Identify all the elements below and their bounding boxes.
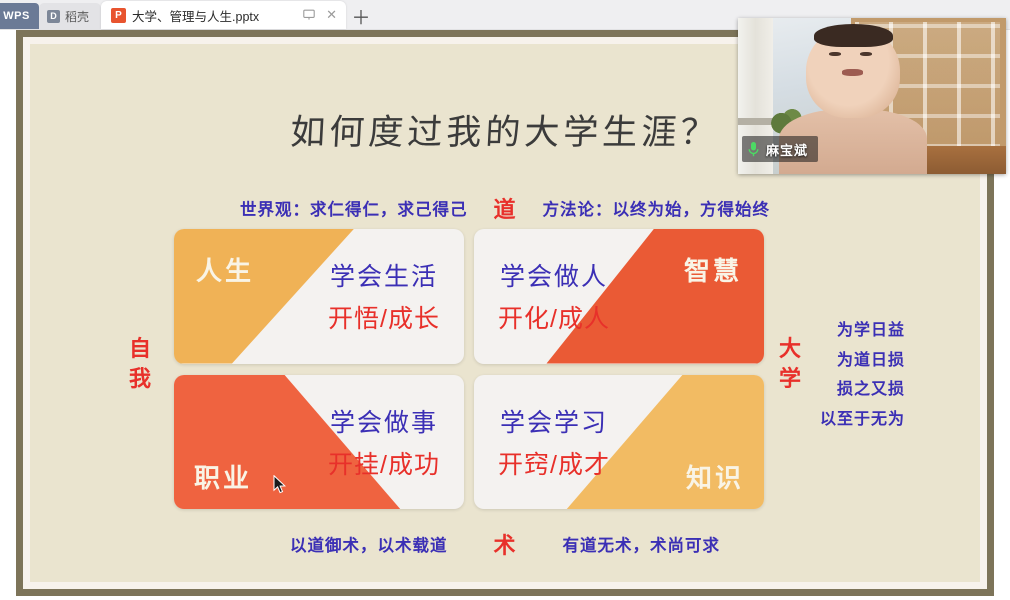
- tab-presentation[interactable]: P 大学、管理与人生.pptx ✕: [101, 1, 346, 29]
- quadrant-blue-line: 学会学习: [498, 403, 610, 439]
- quadrant-blue-line: 学会做人: [498, 257, 610, 293]
- axis-label-university-char-1: 大学: [775, 334, 805, 393]
- quadrant-blue-line: 学会生活: [328, 257, 440, 293]
- bottom-left-text: 以道御术，以术载道: [290, 532, 448, 556]
- quadrant-career[interactable]: 职业 学会做事 开挂/成功: [174, 375, 464, 510]
- axis-label-dao: 道: [493, 192, 516, 224]
- docer-icon: D: [47, 10, 60, 23]
- quadrant-red-line: 开窍/成才: [498, 445, 610, 481]
- quadrant-text: 学会生活 开悟/成长: [328, 257, 440, 335]
- quadrant-text: 学会做事 开挂/成功: [328, 403, 440, 481]
- quadrant-red-line: 开悟/成长: [328, 299, 440, 335]
- quadrant-corner-label: 职业: [194, 458, 252, 495]
- powerpoint-file-icon: P: [111, 8, 126, 23]
- tab-title: 大学、管理与人生.pptx: [132, 6, 294, 25]
- verse-line: 损之又损: [820, 375, 905, 405]
- participant-eye-left: [829, 52, 841, 56]
- quadrant-red-line: 开挂/成功: [328, 445, 440, 481]
- quadrant-knowledge[interactable]: 知识 学会学习 开窍/成才: [474, 375, 764, 510]
- present-monitor-icon[interactable]: [300, 7, 317, 24]
- verse-block: 为学日益 为道日损 损之又损 以至于无为: [820, 316, 905, 434]
- verse-line: 以至于无为: [820, 405, 905, 435]
- top-axis-row: 世界观：求仁得仁，求己得己 道 方法论：以终为始，方得始终: [30, 192, 980, 224]
- axis-label-shu: 术: [493, 528, 516, 560]
- tab-docer-label: 稻壳: [65, 8, 89, 25]
- axis-label-self-char-1: 自我: [125, 334, 155, 393]
- quadrant-corner-label: 人生: [196, 251, 254, 288]
- axis-label-university: 大学: [775, 334, 805, 393]
- bottom-right-text: 有道无术，术尚可求: [563, 532, 721, 556]
- participant-hair: [814, 24, 893, 48]
- new-tab-icon[interactable]: ＋: [346, 3, 376, 29]
- wps-logo[interactable]: WPS: [0, 3, 39, 29]
- participant-name-bar: 麻宝斌: [742, 136, 818, 162]
- worldview-text: 世界观：求仁得仁，求己得己: [240, 196, 468, 220]
- quadrant-blue-line: 学会做事: [328, 403, 440, 439]
- quadrant-corner-label: 知识: [686, 458, 744, 495]
- participant-name: 麻宝斌: [766, 140, 808, 159]
- mouse-cursor: [273, 475, 286, 494]
- quadrant-life[interactable]: 人生 学会生活 开悟/成长: [174, 229, 464, 364]
- participant-mouth: [842, 69, 863, 75]
- verse-line: 为学日益: [820, 316, 905, 346]
- video-overlay[interactable]: 麻宝斌: [738, 18, 1006, 174]
- methodology-text: 方法论：以终为始，方得始终: [543, 196, 771, 220]
- close-icon[interactable]: ✕: [323, 7, 340, 24]
- microphone-icon: [747, 141, 760, 158]
- tab-docer[interactable]: D 稻壳: [39, 3, 101, 29]
- quadrant-grid: 人生 学会生活 开悟/成长 智慧 学会做人 开化/成人: [174, 229, 764, 509]
- quadrant-text: 学会做人 开化/成人: [498, 257, 610, 335]
- quadrant-text: 学会学习 开窍/成才: [498, 403, 610, 481]
- quadrant-wisdom[interactable]: 智慧 学会做人 开化/成人: [474, 229, 764, 364]
- bottom-axis-row: 以道御术，以术载道 术 有道无术，术尚可求: [30, 528, 980, 560]
- verse-line: 为道日损: [820, 346, 905, 376]
- axis-label-self: 自我: [125, 334, 155, 393]
- quadrant-corner-label: 智慧: [684, 251, 742, 288]
- quadrant-red-line: 开化/成人: [498, 299, 610, 335]
- participant-eye-right: [860, 52, 872, 56]
- participant-head: [806, 27, 900, 118]
